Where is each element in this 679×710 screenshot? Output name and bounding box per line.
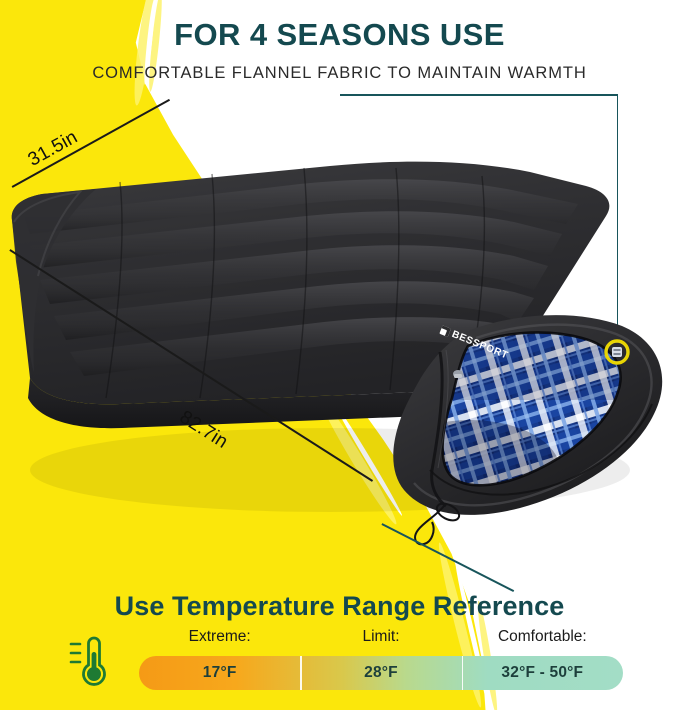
temperature-value-limit: 28°F (300, 656, 461, 690)
temperature-column-headers: Extreme: Limit: Comfortable: (139, 628, 623, 650)
temperature-value-comfortable: 32°F - 50°F (462, 656, 623, 690)
brand-mark-icon (439, 325, 451, 337)
temperature-header-comfortable: Comfortable: (462, 628, 623, 650)
temperature-header-limit: Limit: (300, 628, 461, 650)
temperature-range-bar: 17°F 28°F 32°F - 50°F (139, 656, 623, 690)
temperature-section-title: Use Temperature Range Reference (0, 591, 679, 622)
temperature-value-extreme: 17°F (139, 656, 300, 690)
product-infographic: FOR 4 SEASONS USE COMFORTABLE FLANNEL FA… (0, 0, 679, 710)
thermometer-icon (66, 632, 112, 693)
side-zipper-slider (453, 370, 463, 378)
temperature-header-extreme: Extreme: (139, 628, 300, 650)
